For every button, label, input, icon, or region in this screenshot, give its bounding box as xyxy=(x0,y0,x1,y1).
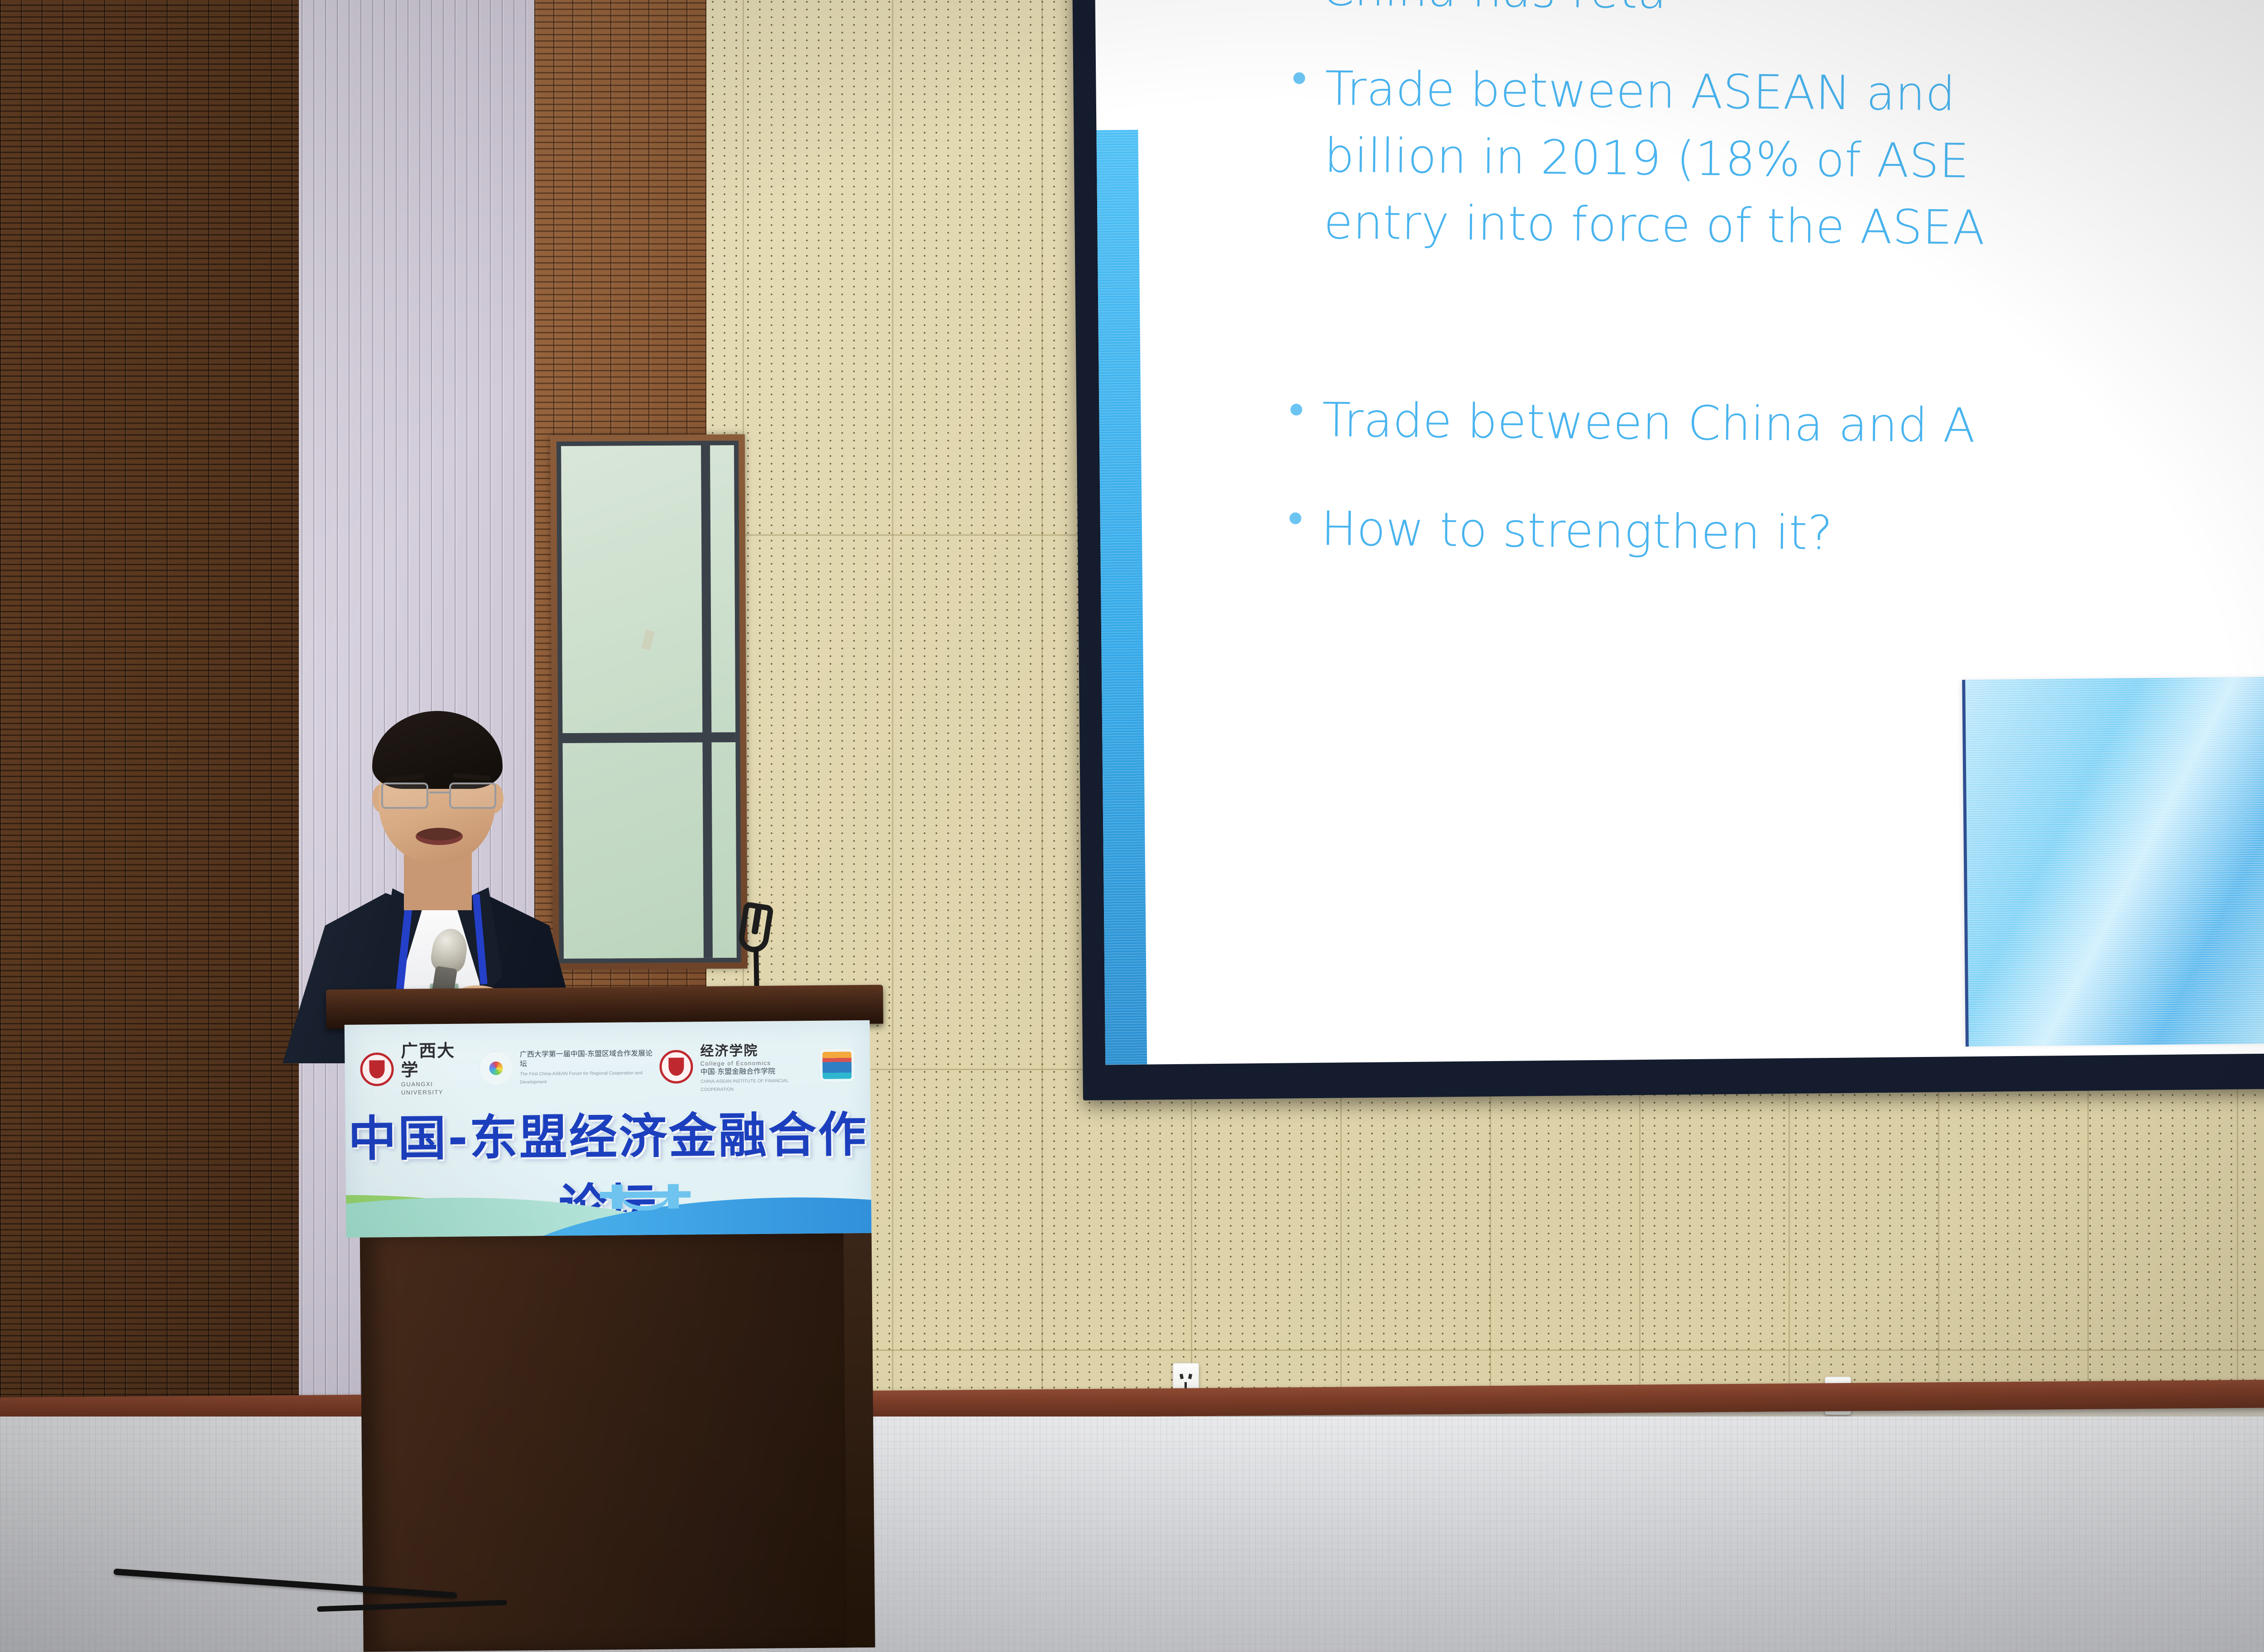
logo-text-cn: 广西大学 xyxy=(401,1041,455,1080)
banner-logo-row: 广西大学 GUANGXI UNIVERSITY 广西大学第一届中国-东盟区域合作… xyxy=(360,1040,855,1095)
bullet-text: China has reta xyxy=(1321,0,1667,25)
college-seal-icon xyxy=(659,1050,693,1084)
bridge-silhouette-icon xyxy=(600,1184,691,1211)
photo-scene: China has reta Trade between ASEAN and b… xyxy=(0,0,2264,1652)
bullet-dot-icon xyxy=(1290,403,1302,415)
podium-banner: 广西大学 GUANGXI UNIVERSITY 广西大学第一届中国-东盟区域合作… xyxy=(345,1020,872,1238)
podium-base-edge xyxy=(844,1233,875,1648)
college-wordmark: 经济学院 College of Economics 中国·东盟金融合作学院 CH… xyxy=(700,1039,812,1094)
slide-accent-bar xyxy=(1096,130,1147,1065)
institute-text-en: CHINA-ASEAN INSTITUTE OF FINANCIAL COOPE… xyxy=(700,1079,788,1093)
college-text-cn: 经济学院 xyxy=(700,1043,758,1059)
bullet-dot-icon xyxy=(1290,512,1301,524)
university-seal-icon xyxy=(360,1052,394,1086)
college-text-en: College of Economics xyxy=(700,1059,771,1066)
forum-logo-text: 广西大学第一届中国-东盟区域合作发展论坛 The First China-ASE… xyxy=(520,1049,660,1085)
podium-base xyxy=(360,1233,848,1652)
slide-bullet-4: How to strengthen it? xyxy=(1289,495,1833,567)
asean-flag-image xyxy=(1962,674,2264,1047)
forum-logo-en: The First China-ASEAN Forum for Regional… xyxy=(520,1071,643,1085)
logo-text-en: GUANGXI UNIVERSITY xyxy=(401,1081,443,1096)
window-mullion-vertical xyxy=(701,445,713,958)
podium: 广西大学 GUANGXI UNIVERSITY 广西大学第一届中国-东盟区域合作… xyxy=(344,985,875,1652)
bullet-text: Trade between China and A xyxy=(1322,387,1976,459)
bullet-line: entry into force of the ASEA xyxy=(1324,189,1986,261)
guangxi-university-wordmark: 广西大学 GUANGXI UNIVERSITY xyxy=(401,1041,472,1096)
institute-text-cn: 中国·东盟金融合作学院 xyxy=(700,1067,775,1076)
window-sticker xyxy=(641,629,654,650)
mouth xyxy=(416,828,463,845)
slide-bullet-1: China has reta xyxy=(1289,0,1667,25)
lower-wall-panels xyxy=(0,1417,2264,1652)
logo-group-left: 广西大学 GUANGXI UNIVERSITY 广西大学第一届中国-东盟区域合作… xyxy=(360,1039,660,1097)
bullet-line: billion in 2019 (18% of ASE xyxy=(1324,122,1986,195)
projection-screen: China has reta Trade between ASEAN and b… xyxy=(1072,0,2264,1100)
rainbow-flower-icon xyxy=(479,1052,513,1085)
forum-logo-cn: 广西大学第一届中国-东盟区域合作发展论坛 xyxy=(520,1050,652,1068)
bullet-text: How to strengthen it? xyxy=(1321,495,1833,567)
bullet-dot-icon xyxy=(1293,72,1305,84)
banner-artwork xyxy=(345,1165,871,1238)
slide-bullet-2: Trade between ASEAN and billion in 2019 … xyxy=(1292,55,1986,261)
slide-surface: China has reta Trade between ASEAN and b… xyxy=(1095,0,2264,1065)
wave-sun-logo-icon xyxy=(819,1048,855,1082)
slide-bullet-3: Trade between China and A xyxy=(1290,386,1976,459)
eyeglasses-icon xyxy=(379,783,498,811)
microphone-grille-icon xyxy=(429,926,470,975)
logo-group-right: 经济学院 College of Economics 中国·东盟金融合作学院 CH… xyxy=(659,1038,855,1094)
bullet-line: Trade between ASEAN and xyxy=(1324,55,1986,128)
bullet-text-block: Trade between ASEAN and billion in 2019 … xyxy=(1324,55,1986,262)
